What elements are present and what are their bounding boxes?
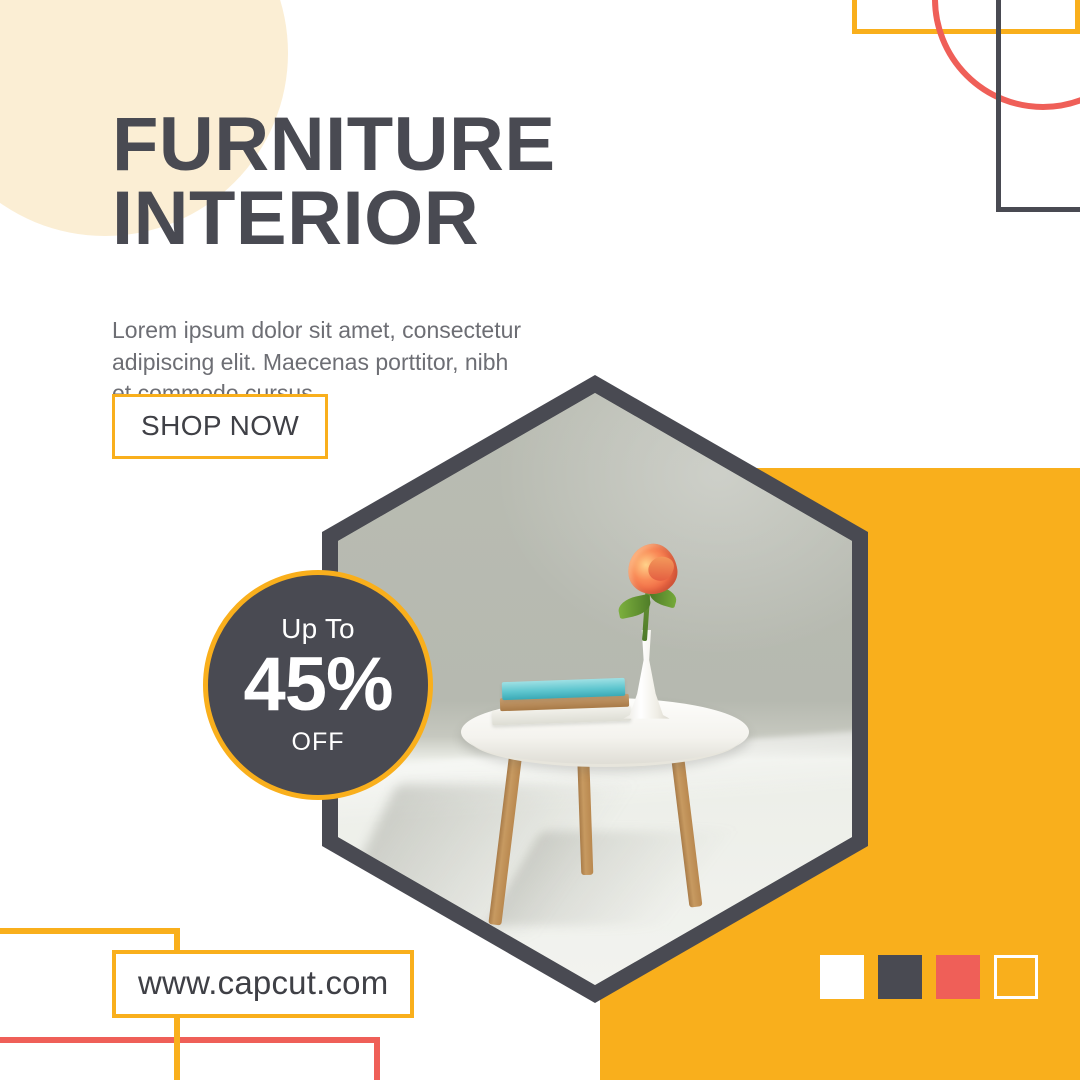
headline-line-1: FURNITURE	[112, 108, 556, 182]
color-swatch-group	[820, 955, 1038, 999]
badge-prefix: Up To	[281, 615, 355, 643]
headline-line-2: INTERIOR	[112, 182, 556, 256]
discount-badge: Up To 45% OFF	[203, 570, 433, 800]
swatch-dark[interactable]	[878, 955, 922, 999]
swatch-white[interactable]	[820, 955, 864, 999]
page-title: FURNITURE INTERIOR	[112, 108, 556, 257]
book-top	[502, 677, 626, 699]
swatch-outline[interactable]	[994, 955, 1038, 999]
badge-value: 45%	[243, 649, 392, 722]
shop-now-button[interactable]: SHOP NOW	[112, 394, 328, 459]
top-right-charcoal-frame-decoration	[996, 0, 1080, 212]
badge-suffix: OFF	[292, 730, 345, 755]
poster-canvas: Up To 45% OFF FURNITURE INTERIOR Lorem i…	[0, 0, 1080, 1080]
swatch-coral[interactable]	[936, 955, 980, 999]
website-url[interactable]: www.capcut.com	[112, 950, 414, 1018]
